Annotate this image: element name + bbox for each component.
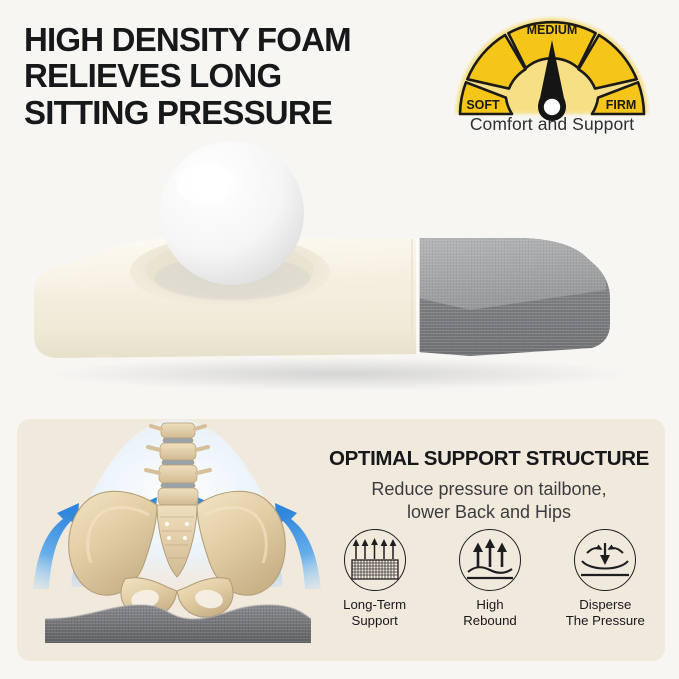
support-subtitle: Reduce pressure on tailbone, lower Back … <box>313 478 665 523</box>
support-text-block: OPTIMAL SUPPORT STRUCTURE Reduce pressur… <box>313 447 665 523</box>
page-title: HIGH DENSITY FOAM RELIEVES LONG SITTING … <box>24 22 454 131</box>
grid-arrows-up-icon <box>349 537 401 583</box>
feature-circle-disperse-pressure <box>574 529 636 591</box>
feature-circle-long-term-support <box>344 529 406 591</box>
gauge-caption: Comfort and Support <box>432 114 672 135</box>
gauge-label-firm: FIRM <box>606 98 637 112</box>
feature-high-rebound: High Rebound <box>438 529 542 629</box>
pelvis-support-illustration <box>17 419 337 661</box>
support-subtitle-line-1: Reduce pressure on tailbone, <box>313 478 665 501</box>
optimal-support-panel: OPTIMAL SUPPORT STRUCTURE Reduce pressur… <box>17 419 665 661</box>
feature-label-high-rebound: High Rebound <box>463 597 517 629</box>
support-title: OPTIMAL SUPPORT STRUCTURE <box>313 447 665 471</box>
feature-label-disperse-pressure: Disperse The Pressure <box>566 597 645 629</box>
firmness-gauge-icon: SOFT MEDIUM FIRM <box>452 14 652 122</box>
firmness-gauge: SOFT MEDIUM FIRM Comfort and Support <box>432 14 672 142</box>
headline-line-1: HIGH DENSITY FOAM <box>24 22 454 58</box>
gauge-label-medium: MEDIUM <box>527 23 578 37</box>
disperse-arrows-icon <box>579 537 631 583</box>
feature-badges: Long-Term Support <box>317 529 663 629</box>
headline-line-2: RELIEVES LONG <box>24 58 454 94</box>
gauge-label-soft: SOFT <box>466 98 500 112</box>
headline-line-3: SITTING PRESSURE <box>24 95 454 131</box>
three-arrows-up-wave-icon <box>464 537 516 583</box>
product-photo <box>0 138 679 400</box>
feature-circle-high-rebound <box>459 529 521 591</box>
feature-label-long-term-support: Long-Term Support <box>343 597 406 629</box>
support-subtitle-line-2: lower Back and Hips <box>313 501 665 524</box>
feature-disperse-pressure: Disperse The Pressure <box>553 529 657 629</box>
feature-long-term-support: Long-Term Support <box>323 529 427 629</box>
